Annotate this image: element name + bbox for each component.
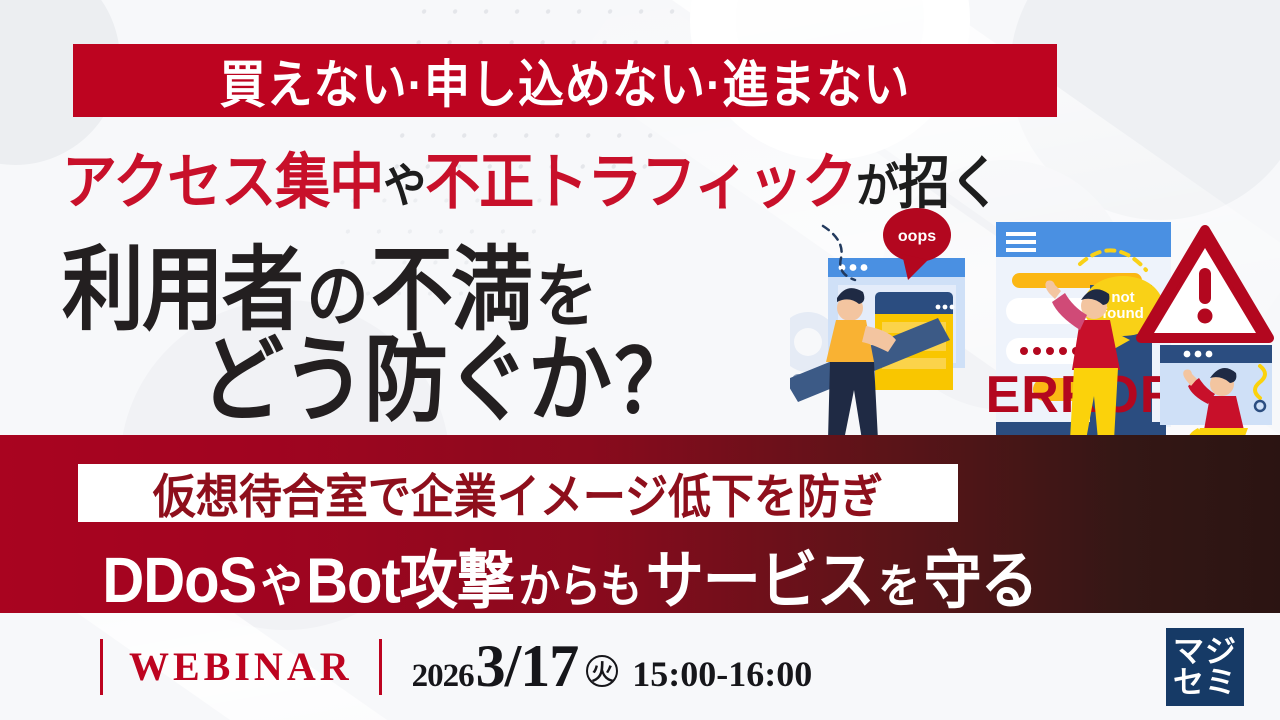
svg-text:not: not xyxy=(1111,289,1134,306)
subtitle-line-2: DDoS や Bot攻撃 からも サービス を 守る xyxy=(0,533,1140,617)
subtitle-segment: や xyxy=(261,549,302,616)
subtitle-segment: サービス xyxy=(646,529,874,621)
headline-segment: や xyxy=(383,148,425,216)
webinar-label: WEBINAR xyxy=(103,643,379,690)
headline-segment: アクセス集中 xyxy=(62,132,383,220)
headline-segment: が xyxy=(856,148,898,216)
event-year: 2026 xyxy=(412,658,474,695)
subtitle-segment: を xyxy=(878,549,919,616)
eyebrow-text: 買えない·申し込めない·進まない xyxy=(220,44,911,118)
subtitle-chip: 仮想待合室で企業イメージ低下を防ぎ xyxy=(78,464,958,522)
subtitle-chip-text: 仮想待合室で企業イメージ低下を防ぎ xyxy=(153,459,883,527)
oops-bubble-label: oops xyxy=(898,228,936,245)
subtitle-segment: DDoS xyxy=(102,544,256,618)
headline-segment: どう防ぐか xyxy=(200,305,610,441)
headline-segment: 不正トラフィック xyxy=(425,132,856,220)
error-illustration: oops xyxy=(790,190,1280,440)
event-datetime: 2026 3/17 火 15:00-16:00 xyxy=(382,632,813,701)
subtitle-segment: Bot攻撃 xyxy=(306,529,514,621)
eyebrow-banner: 買えない·申し込めない·進まない xyxy=(73,44,1057,117)
event-time: 15:00-16:00 xyxy=(618,653,812,695)
webinar-banner: oops xyxy=(0,0,1280,720)
event-day-of-week: 火 xyxy=(586,655,618,687)
headline-segment: 招く xyxy=(898,136,1000,219)
subtitle-segment: 守る xyxy=(924,529,1038,621)
headline-segment: ？ xyxy=(614,312,690,437)
logo-line-1: マジ xyxy=(1173,636,1237,667)
footer-bar: WEBINAR 2026 3/17 火 15:00-16:00 xyxy=(0,613,1280,720)
majiseminar-logo: マジ セミ xyxy=(1166,628,1244,706)
headline-line-2: アクセス集中 や 不正トラフィック が 招く xyxy=(62,136,1072,216)
logo-line-2: セミ xyxy=(1173,667,1237,698)
event-month-day: 3/17 xyxy=(474,632,579,701)
svg-text:found: found xyxy=(1102,305,1144,322)
subtitle-segment: からも xyxy=(518,549,641,616)
headline-line-4: どう防ぐか ？ xyxy=(200,312,690,433)
